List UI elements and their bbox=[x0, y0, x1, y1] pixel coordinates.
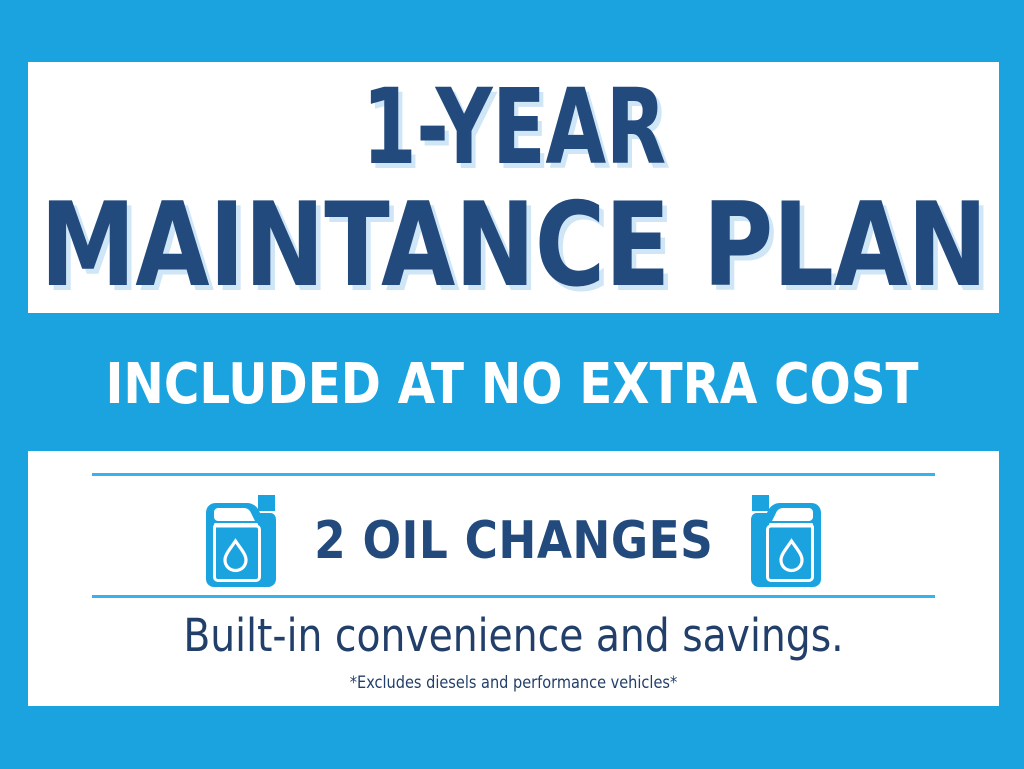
headline-panel: 1-YEAR MAINTANCE PLAN bbox=[28, 62, 999, 313]
divider-bottom bbox=[92, 595, 935, 598]
promo-poster: 1-YEAR MAINTANCE PLAN INCLUDED AT NO EXT… bbox=[0, 0, 1024, 769]
tagline: Built-in convenience and savings. bbox=[43, 609, 985, 662]
subtitle: INCLUDED AT NO EXTRA COST bbox=[20, 352, 1003, 417]
oil-jug-icon-mirrored bbox=[749, 493, 827, 589]
feature-row: 2 OIL CHANGES bbox=[28, 489, 999, 593]
details-panel: 2 OIL CHANGES Built-in convenience and s… bbox=[28, 451, 999, 706]
divider-top bbox=[92, 473, 935, 476]
disclaimer: *Excludes diesels and performance vehicl… bbox=[52, 673, 974, 693]
headline-line-2: MAINTANCE PLAN bbox=[40, 189, 987, 303]
feature-label: 2 OIL CHANGES bbox=[314, 511, 713, 571]
oil-jug-icon bbox=[200, 493, 278, 589]
headline-line-1: 1-YEAR bbox=[362, 77, 666, 179]
